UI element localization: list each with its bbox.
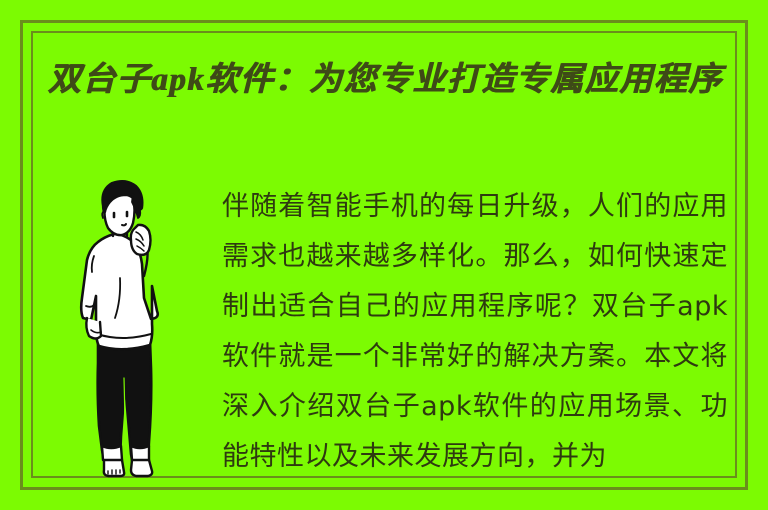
article-body-text: 伴随着智能手机的每日升级，人们的应用需求也越来越多样化。那么，如何快速定制出适合… [222, 182, 728, 470]
left-foot [104, 460, 124, 476]
page-title: 双台子apk软件：为您专业打造专属应用程序 [48, 56, 740, 104]
standing-person-illustration [58, 178, 198, 478]
right-foot [131, 460, 152, 476]
right-hand [131, 225, 151, 255]
trouser-crease [124, 378, 125, 444]
poster-canvas: 双台子apk软件：为您专业打造专属应用程序 [0, 0, 768, 510]
person-figure-svg [58, 178, 198, 478]
